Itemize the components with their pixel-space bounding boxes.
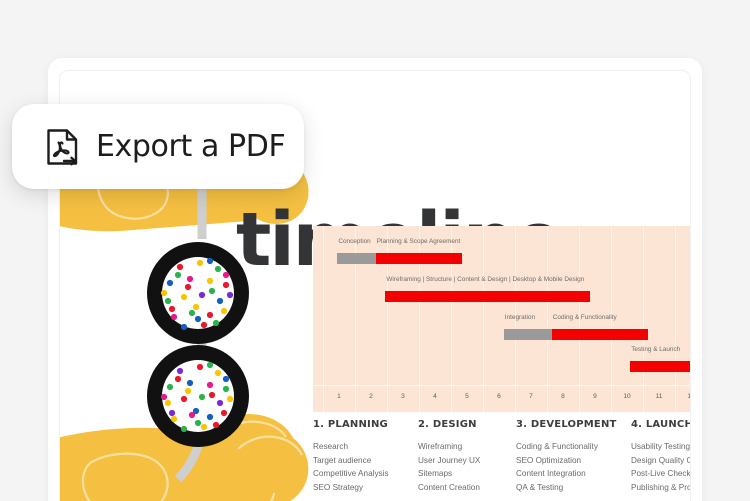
gantt-task-rows: ConceptionPlanning & Scope AgreementWire… xyxy=(313,226,690,386)
gantt-bar-group xyxy=(313,361,690,372)
phase-column: 2. DESIGNWireframingUser Journey UXSitem… xyxy=(418,419,480,494)
phase-list-item: Content Creation xyxy=(418,481,480,495)
phase-column: 1. PLANNINGResearchTarget audienceCompet… xyxy=(313,419,389,494)
gantt-axis-tick: 2 xyxy=(361,393,381,400)
gantt-axis-tick: 1 xyxy=(329,393,349,400)
gantt-task-label: Integration xyxy=(505,314,535,321)
phase-list-item: Coding & Functionality xyxy=(516,440,617,454)
gantt-axis-tick: 10 xyxy=(617,393,637,400)
gantt-chart[interactable]: ConceptionPlanning & Scope AgreementWire… xyxy=(313,226,690,412)
screenshot-stage: timeline. ConceptionPlanning & Scope Agr… xyxy=(0,0,750,501)
gantt-axis-tick: 12 xyxy=(681,393,690,400)
phase-list-item: Usability Testing xyxy=(631,440,690,454)
gantt-axis-tick: 9 xyxy=(585,393,605,400)
gantt-bar-group xyxy=(313,291,690,302)
gantt-axis-tick: 7 xyxy=(521,393,541,400)
gantt-bar-segment[interactable] xyxy=(552,329,648,340)
phase-list-item: Competitive Analysis xyxy=(313,467,389,481)
gantt-bar-segment[interactable] xyxy=(385,291,590,302)
phase-list-item: User Journey UX xyxy=(418,454,480,468)
export-pdf-button[interactable]: Export a PDF xyxy=(12,104,304,189)
phase-heading: 2. DESIGN xyxy=(418,419,480,430)
gantt-axis-tick: 5 xyxy=(457,393,477,400)
phase-list-item: Publishing & Promoting xyxy=(631,481,690,495)
export-pdf-label: Export a PDF xyxy=(96,129,285,164)
phase-list-item: Target audience xyxy=(313,454,389,468)
phase-column: 3. DEVELOPMENTCoding & FunctionalitySEO … xyxy=(516,419,617,494)
gantt-task-row[interactable]: ConceptionPlanning & Scope Agreement xyxy=(313,238,690,276)
gantt-task-label: Wireframing | Structure | Content & Desi… xyxy=(386,276,584,283)
pdf-export-icon xyxy=(46,128,80,166)
phase-item-list: ResearchTarget audienceCompetitive Analy… xyxy=(313,440,389,494)
gantt-axis-tick: 3 xyxy=(393,393,413,400)
gantt-bar-group xyxy=(313,329,690,340)
gantt-task-label: Testing & Launch xyxy=(631,346,680,353)
gantt-month-axis: 123456789101112 xyxy=(313,385,690,412)
phase-list-item: Post-Live Checks xyxy=(631,467,690,481)
phase-list-item: QA & Testing xyxy=(516,481,617,495)
phase-list-item: Research xyxy=(313,440,389,454)
gantt-task-label: Planning & Scope Agreement xyxy=(377,238,461,245)
gantt-bar-segment[interactable] xyxy=(337,253,375,264)
gantt-bar-group xyxy=(313,253,690,264)
gantt-task-row[interactable]: Testing & Launch xyxy=(313,346,690,384)
phase-list-item: Wireframing xyxy=(418,440,480,454)
phase-item-list: Usability TestingDesign Quality CheckPos… xyxy=(631,440,690,494)
phase-item-list: Coding & FunctionalitySEO OptimizationCo… xyxy=(516,440,617,494)
gantt-task-label: Coding & Functionality xyxy=(553,314,617,321)
gantt-axis-tick: 4 xyxy=(425,393,445,400)
phase-list-item: SEO Strategy xyxy=(313,481,389,495)
gantt-axis-tick: 11 xyxy=(649,393,669,400)
phase-list-item: Design Quality Check xyxy=(631,454,690,468)
gantt-bar-segment[interactable] xyxy=(504,329,552,340)
phase-heading: 4. LAUNCH xyxy=(631,419,690,430)
gantt-task-label: Conception xyxy=(338,238,370,245)
gantt-axis-tick: 6 xyxy=(489,393,509,400)
phase-list-item: Content Integration xyxy=(516,467,617,481)
phase-heading: 1. PLANNING xyxy=(313,419,389,430)
phase-item-list: WireframingUser Journey UXSitemapsConten… xyxy=(418,440,480,494)
gantt-axis-tick: 8 xyxy=(553,393,573,400)
gantt-bar-segment[interactable] xyxy=(630,361,690,372)
phase-heading: 3. DEVELOPMENT xyxy=(516,419,617,430)
gantt-task-row[interactable]: Wireframing | Structure | Content & Desi… xyxy=(313,276,690,314)
phase-list-item: SEO Optimization xyxy=(516,454,617,468)
phase-list-item: Sitemaps xyxy=(418,467,480,481)
gantt-bar-segment[interactable] xyxy=(376,253,462,264)
phase-column: 4. LAUNCHUsability TestingDesign Quality… xyxy=(631,419,690,494)
